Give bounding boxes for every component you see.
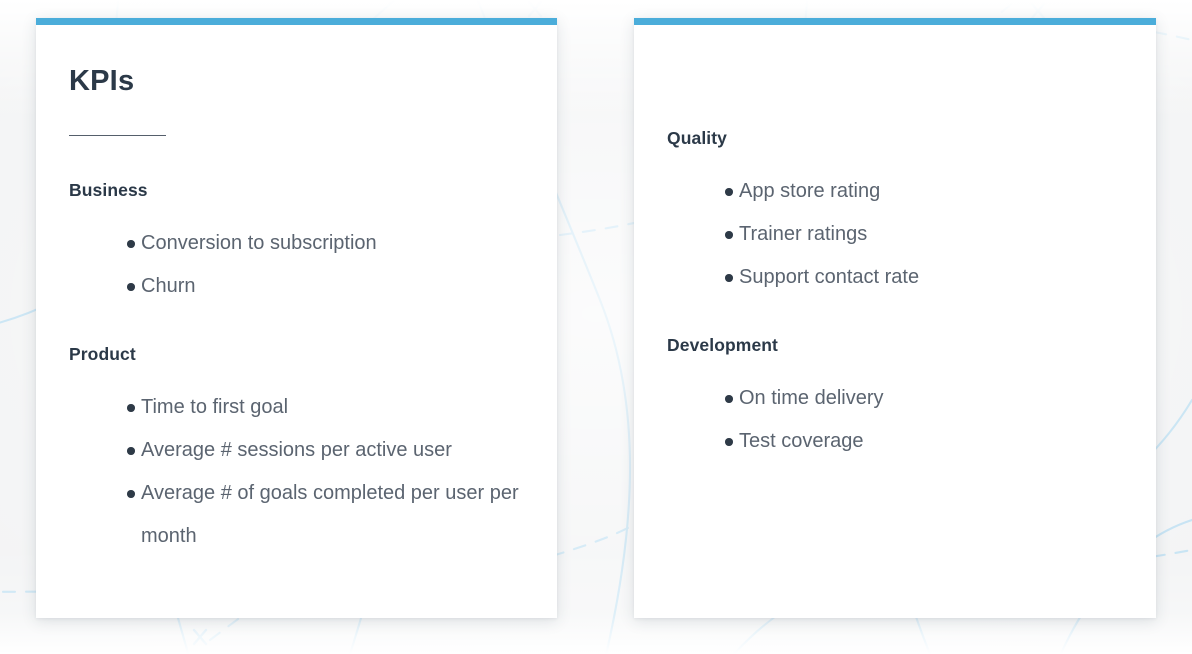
quality-card-body: Quality App store rating Trainer ratings… (634, 25, 1156, 618)
list-item-label: Test coverage (739, 420, 1137, 463)
list-item: App store rating (667, 170, 1137, 213)
list-item: Average # sessions per active user (69, 429, 539, 472)
bullet-icon (725, 231, 733, 239)
kpi-list-business: Conversion to subscription Churn (69, 222, 539, 308)
page-title: KPIs (69, 65, 134, 98)
title-divider (69, 135, 166, 136)
kpi-list-product: Time to first goal Average # sessions pe… (69, 386, 539, 558)
list-item-label: Trainer ratings (739, 213, 1137, 256)
list-item-label: App store rating (739, 170, 1137, 213)
list-item: Trainer ratings (667, 213, 1137, 256)
section-development: Development On time delivery Test covera… (667, 335, 1137, 463)
list-item: Average # of goals completed per user pe… (69, 472, 539, 558)
bullet-icon (725, 188, 733, 196)
list-item-label: Time to first goal (141, 386, 539, 429)
bullet-icon (725, 438, 733, 446)
bullet-icon (725, 395, 733, 403)
kpi-list-development: On time delivery Test coverage (667, 377, 1137, 463)
decor-x-marker-bottom-left (194, 630, 206, 644)
list-item: Churn (69, 265, 539, 308)
list-item: On time delivery (667, 377, 1137, 420)
section-business: Business Conversion to subscription Chur… (69, 180, 539, 308)
bullet-icon (127, 240, 135, 248)
list-item-label: Average # of goals completed per user pe… (141, 472, 539, 558)
section-heading-quality: Quality (667, 128, 1137, 149)
card-accent-bar (36, 18, 557, 25)
list-item-label: Support contact rate (739, 256, 1137, 299)
section-heading-product: Product (69, 344, 539, 365)
bullet-icon (127, 447, 135, 455)
decor-x-marker-top-right (1032, 4, 1044, 18)
list-item: Time to first goal (69, 386, 539, 429)
list-item: Conversion to subscription (69, 222, 539, 265)
decor-x-marker-top-center (529, 2, 541, 16)
list-item-label: Conversion to subscription (141, 222, 539, 265)
list-item: Support contact rate (667, 256, 1137, 299)
bullet-icon (725, 274, 733, 282)
quality-card: Quality App store rating Trainer ratings… (634, 18, 1156, 618)
list-item-label: Churn (141, 265, 539, 308)
bullet-icon (127, 490, 135, 498)
section-heading-development: Development (667, 335, 1137, 356)
list-item: Test coverage (667, 420, 1137, 463)
kpis-card: KPIs Business Conversion to subscription… (36, 18, 557, 618)
section-quality: Quality App store rating Trainer ratings… (667, 128, 1137, 299)
list-item-label: On time delivery (739, 377, 1137, 420)
list-item-label: Average # sessions per active user (141, 429, 539, 472)
kpi-list-quality: App store rating Trainer ratings Support… (667, 170, 1137, 299)
kpis-card-body: KPIs Business Conversion to subscription… (36, 25, 557, 618)
bullet-icon (127, 283, 135, 291)
section-heading-business: Business (69, 180, 539, 201)
card-accent-bar (634, 18, 1156, 25)
bullet-icon (127, 404, 135, 412)
section-product: Product Time to first goal Average # ses… (69, 344, 539, 558)
